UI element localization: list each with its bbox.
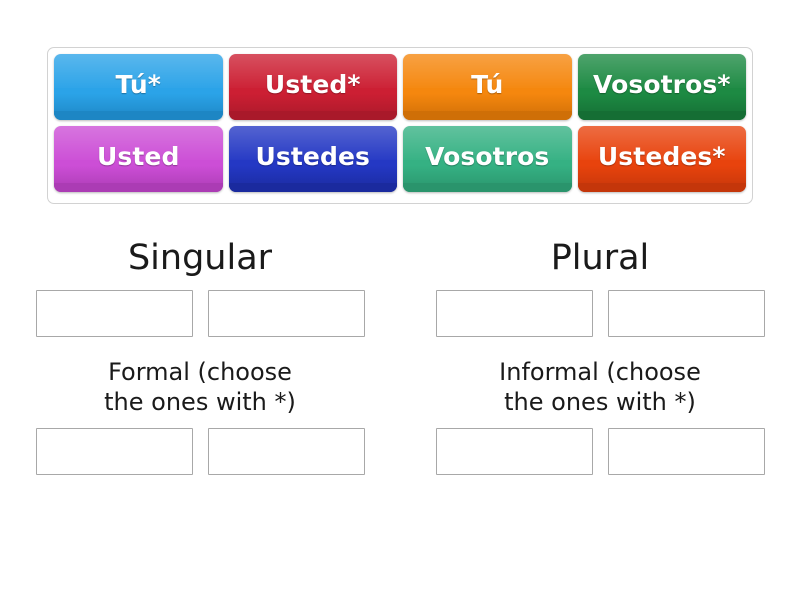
- draggable-tile[interactable]: Ustedes: [229, 126, 398, 192]
- column-heading: Singular: [128, 228, 272, 290]
- column-sub-label: Informal (choose the ones with *): [499, 357, 701, 417]
- draggable-tile[interactable]: Ustedes*: [578, 126, 747, 192]
- dropzone-row-bottom: [436, 428, 765, 475]
- dropzone[interactable]: [608, 290, 765, 337]
- column-heading: Plural: [551, 228, 650, 290]
- dropzone[interactable]: [208, 428, 365, 475]
- tile-label: Tú*: [116, 72, 161, 97]
- draggable-tile[interactable]: Tú: [403, 54, 572, 120]
- dropzone[interactable]: [36, 428, 193, 475]
- draggable-tile[interactable]: Tú*: [54, 54, 223, 120]
- draggable-tile[interactable]: Vosotros*: [578, 54, 747, 120]
- tile-label: Ustedes*: [598, 144, 726, 169]
- dropzone[interactable]: [436, 290, 593, 337]
- dropzone-row-bottom: [36, 428, 365, 475]
- dropzone[interactable]: [436, 428, 593, 475]
- tile-label: Usted*: [265, 72, 361, 97]
- column-sub-label: Formal (choose the ones with *): [104, 357, 296, 417]
- draggable-tile[interactable]: Usted: [54, 126, 223, 192]
- draggable-tile[interactable]: Vosotros: [403, 126, 572, 192]
- tile-label: Usted: [97, 144, 179, 169]
- tile-label: Tú: [471, 72, 503, 97]
- dropzone-row-top: [36, 290, 365, 337]
- tile-label: Vosotros: [425, 144, 549, 169]
- dropzone[interactable]: [208, 290, 365, 337]
- tile-tray: Tú* Usted* Tú Vosotros* Usted Ustedes Vo…: [47, 47, 753, 204]
- board-column-singular: Singular Formal (choose the ones with *): [0, 228, 400, 475]
- tile-label: Ustedes: [255, 144, 370, 169]
- dropzone[interactable]: [36, 290, 193, 337]
- tile-row: Usted Ustedes Vosotros Ustedes*: [54, 126, 746, 192]
- board-column-plural: Plural Informal (choose the ones with *): [400, 228, 800, 475]
- draggable-tile[interactable]: Usted*: [229, 54, 398, 120]
- dropzone[interactable]: [608, 428, 765, 475]
- activity-stage: Tú* Usted* Tú Vosotros* Usted Ustedes Vo…: [0, 0, 800, 600]
- answer-board: Singular Formal (choose the ones with *)…: [0, 228, 800, 475]
- tile-row: Tú* Usted* Tú Vosotros*: [54, 54, 746, 120]
- dropzone-row-top: [436, 290, 765, 337]
- tile-label: Vosotros*: [593, 72, 731, 97]
